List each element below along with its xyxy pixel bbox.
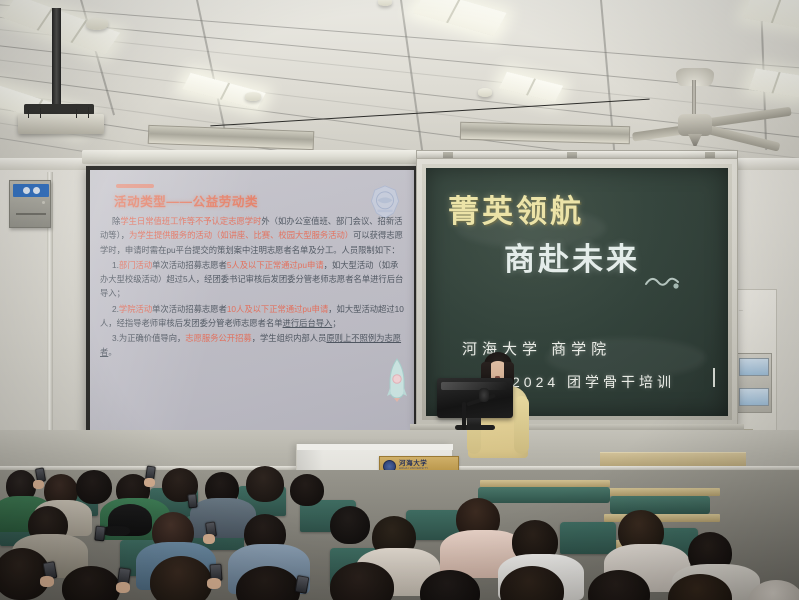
cap-brim [102, 526, 130, 536]
hand [203, 534, 215, 544]
ceiling-light [743, 0, 799, 29]
microphone-head [479, 388, 489, 402]
slide-title-accent-bar [116, 184, 154, 188]
hand [33, 480, 44, 489]
hand [144, 478, 155, 487]
ceiling-light [182, 73, 266, 110]
chair-row [610, 496, 710, 514]
chalk-flourish-icon [644, 272, 680, 290]
audience-head [330, 506, 370, 544]
smoke-detector-icon [478, 88, 492, 97]
smartphone [94, 526, 106, 542]
hand [116, 582, 130, 593]
hand [40, 576, 54, 587]
fan-motor-housing [678, 114, 712, 136]
panel-window [739, 358, 769, 376]
microphone-stem [462, 402, 466, 430]
indicator-dot-icon [33, 187, 40, 194]
audience-head [150, 556, 212, 600]
chair-row [478, 487, 610, 503]
indicator-dot-icon [23, 187, 30, 194]
projection-screen[interactable]: 活动类型——公益劳动类 除学生日常值班工作等不予认定志愿学时外（如办公室值班、部… [86, 166, 418, 434]
panel-window [739, 388, 769, 406]
screen-roller-housing[interactable] [82, 150, 422, 164]
ceiling-light [499, 72, 563, 103]
audience-head [0, 548, 50, 600]
chair [560, 522, 616, 554]
slide-paragraph: 1.部门活动单次活动招募志愿者5人及以下正常通过pu申请，如大型活动（如承办大型… [100, 258, 404, 301]
desk [480, 480, 610, 487]
audience-head [290, 474, 324, 506]
audience-head [76, 470, 112, 504]
audience [0, 470, 799, 600]
blackboard-headline-1: 菁英领航 [448, 186, 584, 231]
slide-paragraph: 2.学院活动单次活动招募志愿者10人及以下正常通过pu申请，如大型活动超过10人… [100, 302, 404, 331]
slide-body: 除学生日常值班工作等不予认定志愿学时外（如办公室值班、部门会议、招新活动等），为… [100, 214, 404, 361]
slide-paragraph: 3.为正确价值导向，志愿服务公开招募，学生组织内部人员原则上不照例为志愿者。 [100, 331, 404, 360]
blackboard-event-line: 2024 团学骨干培训 [512, 372, 675, 392]
rocket-illustration [386, 358, 408, 402]
ceiling-fan [640, 66, 799, 150]
presenter-arm [514, 396, 529, 454]
monitor-glare [441, 382, 507, 390]
smoke-detector-icon [86, 18, 108, 30]
smoke-detector-icon [245, 92, 261, 101]
ceiling [0, 0, 799, 168]
blackboard-headline-2: 商赴未来 [504, 234, 640, 279]
smartphone [187, 494, 197, 509]
hand [207, 578, 221, 589]
control-box-label [13, 184, 49, 197]
presentation-slide: 活动类型——公益劳动类 除学生日常值班工作等不予认定志愿学时外（如办公室值班、部… [90, 170, 414, 430]
slide-paragraph: 除学生日常值班工作等不予认定志愿学时外（如办公室值班、部门会议、招新活动等），为… [100, 214, 404, 257]
desk [600, 488, 720, 496]
control-box-led-icon [42, 201, 45, 204]
slide-title: 活动类型——公益劳动类 [114, 191, 258, 210]
audience-head [246, 466, 284, 502]
smoke-detector-icon [378, 0, 392, 6]
chalk-stroke [713, 368, 715, 387]
ceiling-projector [18, 104, 104, 134]
projector-mount-pole [52, 8, 61, 112]
projector-body [18, 114, 104, 134]
lecture-hall-photo: — — 活动类型——公益劳动类 除学生日常值班工作等 [0, 0, 799, 600]
monitor-base [455, 425, 495, 430]
monitor-screen [437, 378, 513, 418]
ceiling-air-vent [148, 125, 315, 150]
ceiling-light [413, 0, 506, 36]
panel-metal-bezel [734, 353, 772, 413]
wall-control-box[interactable] [9, 180, 51, 228]
control-box-slot [16, 213, 46, 215]
